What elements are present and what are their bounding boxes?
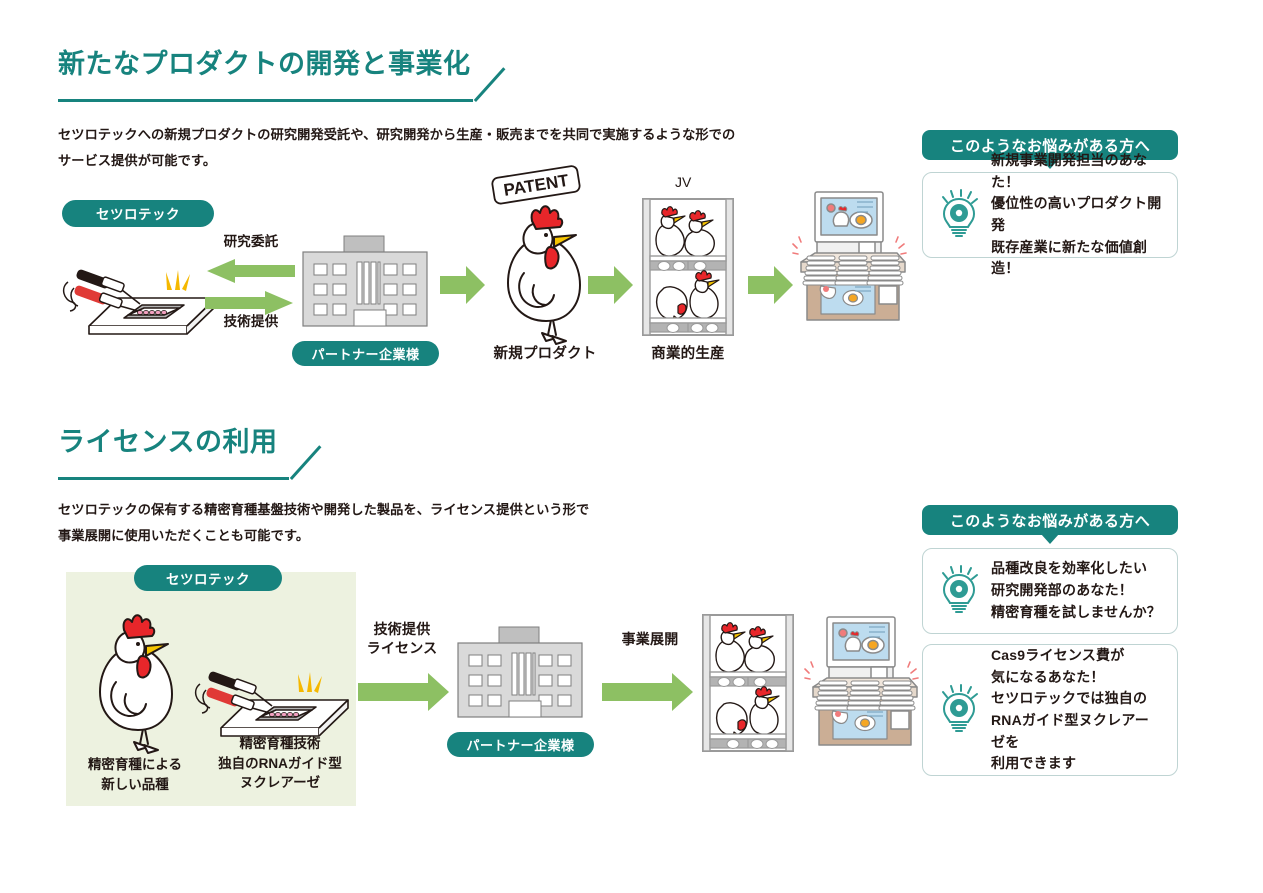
callout-box-2-item-2: Cas9ライセンス費が 気になるあなた！ セツロテックでは独自の RNAガイド型… (922, 644, 1178, 776)
caption-new-breed: 精密育種による 新しい品種 (60, 755, 210, 794)
callout-text-2-1: 品種改良を効率化したい 研究開発部のあなた！ 精密育種を試しませんか？ (991, 558, 1161, 623)
callout-text-2-2: Cas9ライセンス費が 気になるあなた！ セツロテックでは独自の RNAガイド型… (991, 645, 1163, 775)
label-jv: JV (675, 174, 691, 190)
lightbulb-gear-icon (937, 563, 981, 620)
section-1-heading: 新たなプロダクトの開発と事業化 (58, 50, 471, 110)
section-1-title-rule (58, 80, 471, 110)
section-2-title-rule (58, 458, 277, 488)
lightbulb-gear-icon (937, 187, 981, 244)
chicken-illustration-1 (490, 195, 600, 345)
arrow-to-production (588, 265, 634, 305)
arrow-business-development (602, 672, 694, 712)
section-2-lead: セツロテックの保有する精密育種基盤技術や開発した製品を、ライセンス提供という形で… (58, 497, 758, 548)
chicken-illustration-2 (82, 604, 192, 754)
caption-commercial-production: 商業的生産 (618, 345, 758, 365)
chicken-cage-illustration-2 (700, 612, 796, 754)
label-technology-provision: 技術提供 (205, 313, 297, 331)
chicken-cage-illustration-1 (640, 196, 736, 338)
egg-retail-stand-illustration-2 (805, 615, 920, 755)
lightbulb-gear-icon (937, 682, 981, 739)
electroporation-device-illustration-1 (56, 248, 226, 348)
label-research-commission: 研究委託 (205, 233, 297, 251)
callout-box-2-item-1: 品種改良を効率化したい 研究開発部のあなた！ 精密育種を試しませんか？ (922, 548, 1178, 634)
section-2-title: ライセンスの利用 (58, 428, 277, 458)
pill-setsurotech-2: セツロテック (134, 565, 282, 591)
arrow-research-commission (205, 258, 295, 284)
egg-retail-stand-illustration-1 (793, 190, 908, 330)
pill-partner-company-2: パートナー企業様 (447, 732, 594, 757)
pill-partner-company-1: パートナー企業様 (292, 341, 439, 366)
arrow-license (358, 672, 450, 712)
infographic-page: 新たなプロダクトの開発と事業化 セツロテックへの新規プロダクトの研究開発受託や、… (0, 0, 1263, 893)
partner-building-illustration-1 (300, 236, 430, 328)
arrow-to-retail (748, 265, 794, 305)
section-2-heading: ライセンスの利用 (58, 428, 277, 488)
callout-text-1-1: 新規事業開発担当のあなた！ 優位性の高いプロダクト開発 既存産業に新たな価値創造… (991, 150, 1163, 280)
label-license-provision: 技術提供 ライセンス (358, 620, 446, 658)
arrow-to-product (440, 265, 486, 305)
pill-setsurotech-1: セツロテック (62, 200, 214, 227)
callout-head-2: このようなお悩みがある方へ (922, 505, 1178, 535)
section-1-lead: セツロテックへの新規プロダクトの研究開発受託や、研究開発から生産・販売までを共同… (58, 122, 898, 173)
section-1-title: 新たなプロダクトの開発と事業化 (58, 50, 471, 80)
callout-box-1-item-1: 新規事業開発担当のあなた！ 優位性の高いプロダクト開発 既存産業に新たな価値創造… (922, 172, 1178, 258)
caption-new-product: 新規プロダクト (470, 345, 620, 365)
partner-building-illustration-2 (455, 627, 585, 719)
label-business-development: 事業展開 (610, 630, 690, 649)
caption-precision-breeding-tech: 精密育種技術 独自のRNAガイド型 ヌクレアーゼ (200, 734, 360, 793)
